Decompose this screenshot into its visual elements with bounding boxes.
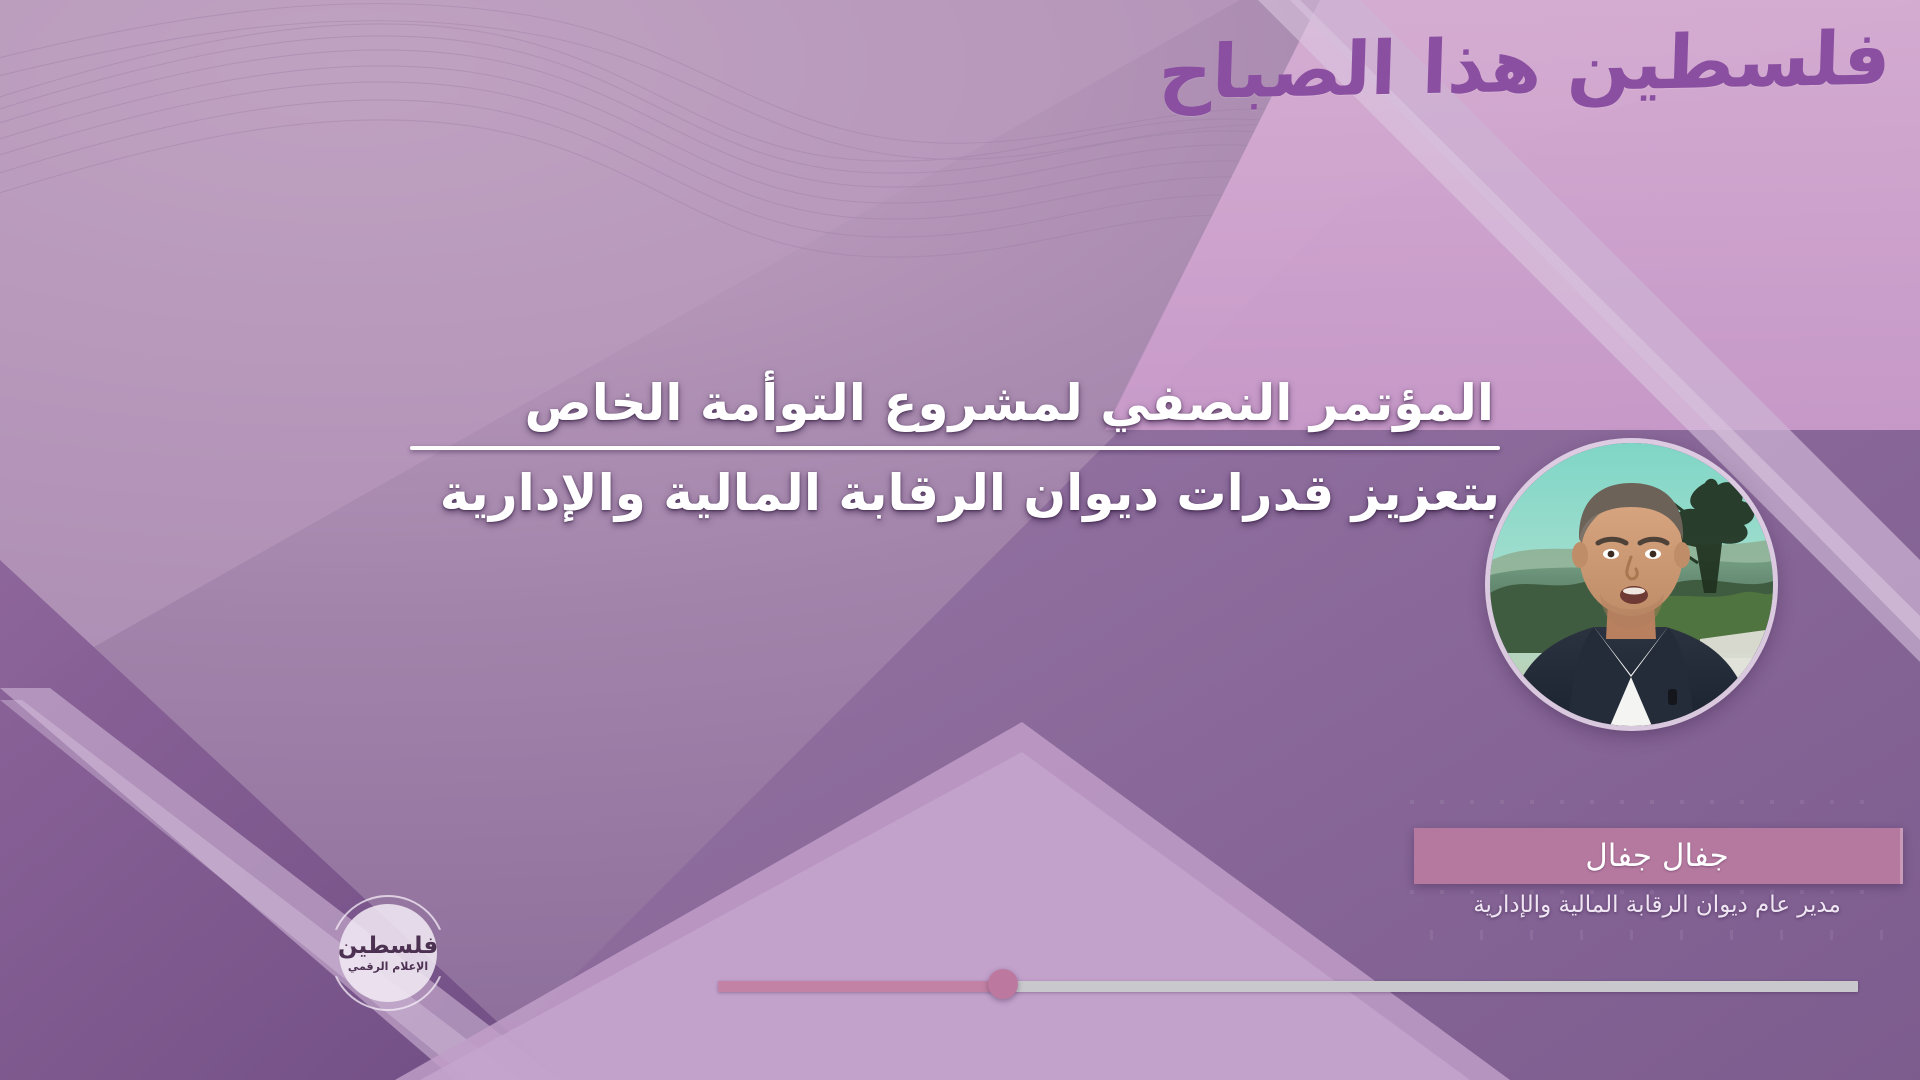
progress-knob-handle[interactable] — [988, 969, 1018, 999]
watermark-sub-text: الإعلام الرقمي — [348, 961, 428, 972]
guest-photo-image — [1490, 443, 1773, 726]
guest-role-line: مدير عام ديوان الرقابة المالية والإدارية — [1414, 892, 1900, 918]
headline-block: المؤتمر النصفي لمشروع التوأمة الخاص بتعز… — [410, 372, 1500, 524]
headline-divider — [410, 446, 1500, 450]
broadcast-overlay-stage: فلسطين هذا الصباح المؤتمر النصفي لمشروع … — [0, 0, 1920, 1080]
guest-role: مدير عام ديوان الرقابة المالية والإدارية — [1473, 892, 1841, 918]
program-logo-text: فلسطين هذا الصباح — [1157, 21, 1891, 110]
playback-progress-bar[interactable] — [718, 977, 1858, 993]
channel-watermark: فلسطين الإعلام الرقمي — [330, 895, 446, 1011]
progress-fill — [718, 981, 1003, 992]
watermark-disc: فلسطين الإعلام الرقمي — [339, 904, 437, 1002]
guest-name-banner: جفال جفال — [1414, 828, 1903, 884]
watermark-main-text: فلسطين — [338, 935, 438, 958]
headline-line-2: بتعزيز قدرات ديوان الرقابة المالية والإد… — [410, 462, 1500, 524]
guest-avatar — [1490, 443, 1773, 726]
headline-line-1: المؤتمر النصفي لمشروع التوأمة الخاص — [410, 372, 1500, 434]
guest-name: جفال جفال — [1585, 838, 1728, 874]
program-logo: فلسطين هذا الصباح — [1330, 6, 1890, 126]
